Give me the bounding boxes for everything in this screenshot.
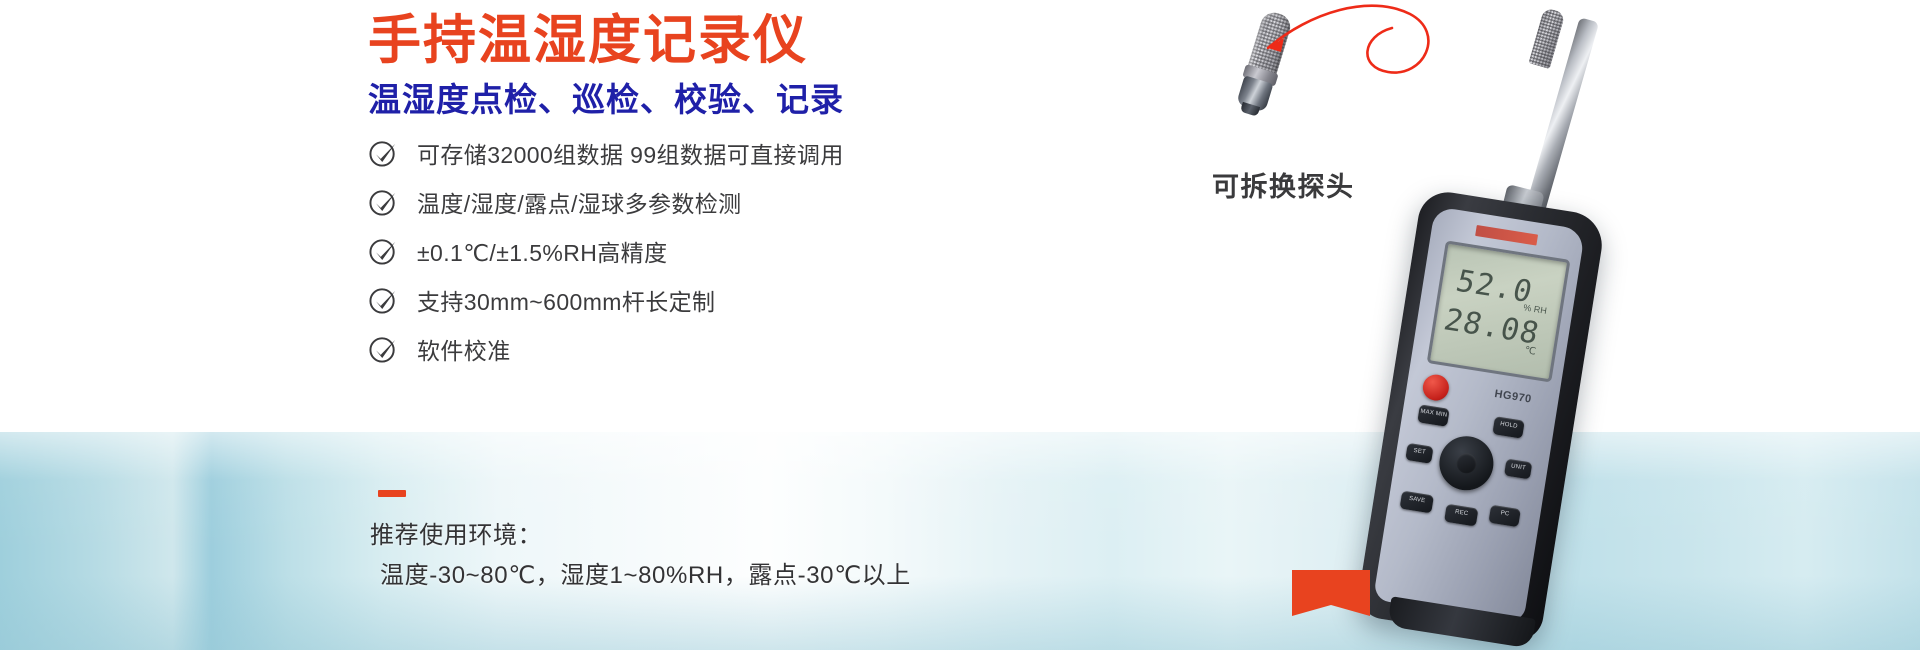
note-dash-marker bbox=[378, 490, 406, 497]
navigation-pad-center[interactable] bbox=[1455, 452, 1478, 475]
device-bottom-grip bbox=[1387, 596, 1536, 648]
note-detail: 温度-30~80℃，湿度1~80%RH，露点-30℃以上 bbox=[380, 555, 911, 590]
feature-text: 支持30mm~600mm杆长定制 bbox=[417, 283, 715, 317]
feature-list: 可存储32000组数据 99组数据可直接调用 温度/湿度/露点/湿球多参数检测 … bbox=[368, 129, 1108, 374]
check-circle-icon bbox=[368, 138, 398, 168]
device-front-panel: HENGKO 52.0 % RH 28.08 ℃ HG970 MAX MIN H… bbox=[1373, 206, 1585, 623]
device-model-label: HG970 bbox=[1494, 388, 1533, 406]
note-heading: 推荐使用环境： bbox=[370, 515, 542, 550]
device-lcd-screen: 52.0 % RH 28.08 ℃ bbox=[1427, 240, 1571, 382]
check-circle-icon bbox=[368, 236, 398, 266]
list-item: 可存储32000组数据 99组数据可直接调用 bbox=[368, 129, 1108, 177]
key-rec[interactable]: REC bbox=[1444, 504, 1478, 527]
feature-text: 软件校准 bbox=[417, 332, 511, 366]
list-item: 支持30mm~600mm杆长定制 bbox=[368, 276, 1108, 324]
feature-text: ±0.1℃/±1.5%RH高精度 bbox=[417, 234, 667, 268]
list-item: 软件校准 bbox=[368, 325, 1108, 373]
check-circle-icon bbox=[368, 285, 398, 315]
device-keypad: MAX MIN HOLD SET UNIT SAVE REC PC bbox=[1396, 403, 1545, 540]
key-max-min[interactable]: MAX MIN bbox=[1417, 404, 1449, 426]
key-unit[interactable]: UNIT bbox=[1504, 459, 1532, 480]
product-banner: 手持温湿度记录仪 温湿度点检、巡检、校验、记录 可存储32000组数据 99组数… bbox=[0, 0, 1920, 650]
key-save[interactable]: SAVE bbox=[1400, 491, 1434, 514]
check-circle-icon bbox=[368, 187, 398, 217]
device-housing: HENGKO 52.0 % RH 28.08 ℃ HG970 MAX MIN H… bbox=[1355, 188, 1606, 644]
check-circle-icon bbox=[368, 334, 398, 364]
page-subtitle: 温湿度点检、巡检、校验、记录 bbox=[368, 79, 844, 122]
device-image: HENGKO 52.0 % RH 28.08 ℃ HG970 MAX MIN H… bbox=[1280, 0, 1700, 650]
device-probe-mesh-tip bbox=[1528, 7, 1565, 69]
status-badge-label: 全能型 bbox=[0, 7, 78, 32]
key-hold[interactable]: HOLD bbox=[1492, 416, 1524, 438]
key-pc[interactable]: PC bbox=[1488, 505, 1520, 527]
power-button[interactable] bbox=[1421, 373, 1451, 403]
navigation-pad[interactable] bbox=[1436, 432, 1498, 494]
page-title: 手持温湿度记录仪 bbox=[368, 8, 808, 74]
key-set[interactable]: SET bbox=[1405, 443, 1433, 464]
feature-text: 可存储32000组数据 99组数据可直接调用 bbox=[417, 136, 844, 170]
device-brand-label: HENGKO bbox=[1475, 225, 1538, 246]
list-item: 温度/湿度/露点/湿球多参数检测 bbox=[368, 178, 1108, 226]
list-item: ±0.1℃/±1.5%RH高精度 bbox=[368, 227, 1108, 275]
feature-text: 温度/湿度/露点/湿球多参数检测 bbox=[417, 185, 742, 219]
lcd-temperature-unit: ℃ bbox=[1524, 345, 1537, 358]
